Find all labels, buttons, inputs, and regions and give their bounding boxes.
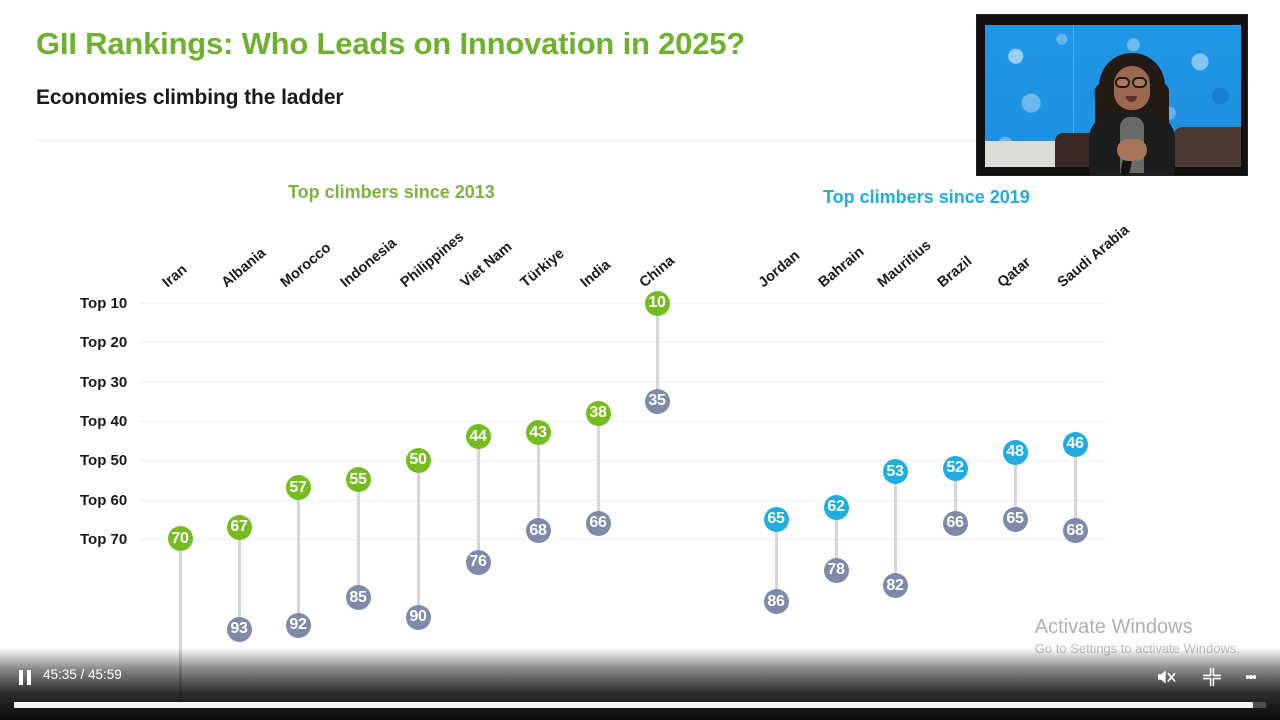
bubble-baseline-türkiye: 68 [526,518,551,543]
bubble-current-qatar: 48 [1003,440,1028,465]
x-axis-label-saudi-arabia: Saudi Arabia [1055,222,1133,291]
gii-rankings-chart: Top climbers since 2013 Top climbers sin… [0,150,1280,670]
bubble-current-philippines: 50 [406,448,431,473]
y-axis-label-10: Top 10 [80,295,140,312]
group-heading-2013: Top climbers since 2013 [288,182,495,203]
bubble-current-viet-nam: 44 [466,424,491,449]
bubble-current-albania: 67 [227,515,252,540]
x-axis-label-india: India [578,257,614,291]
bubble-baseline-morocco: 92 [286,613,311,638]
x-axis-label-bahrain: Bahrain [816,244,868,291]
page-title: GII Rankings: Who Leads on Innovation in… [36,26,745,62]
seek-bar-progress [14,702,1253,708]
pause-button[interactable] [12,664,38,690]
x-axis-label-albania: Albania [219,245,269,291]
stem-albania [238,527,241,629]
volume-muted-icon [1156,667,1178,687]
stem-türkiye [537,433,540,531]
page-subtitle: Economies climbing the ladder [36,86,344,110]
y-axis-label-60: Top 60 [80,492,140,509]
bubble-baseline-mauritius: 82 [883,573,908,598]
video-control-bar: 45:35 / 45:59 [0,648,1280,720]
exit-fullscreen-icon [1202,667,1222,687]
x-axis-label-brazil: Brazil [935,253,976,291]
x-axis-label-viet-nam: Viet Nam [458,239,516,291]
bubble-current-china: 10 [645,291,670,316]
bubble-current-morocco: 57 [286,475,311,500]
bubble-baseline-albania: 93 [227,617,252,642]
bubble-current-saudi-arabia: 46 [1063,432,1088,457]
stem-philippines [417,460,420,617]
gridline-top-20 [140,342,1105,343]
x-axis-label-qatar: Qatar [995,254,1034,291]
glasses-right-lens [1132,77,1147,88]
gridline-top-70 [140,539,1105,540]
stem-china [656,303,659,401]
y-axis-label-20: Top 20 [80,334,140,351]
bubble-current-jordan: 65 [764,507,789,532]
pause-icon-bar-right [27,670,31,685]
bubble-current-mauritius: 53 [883,459,908,484]
bubble-current-india: 38 [586,401,611,426]
y-axis-label-50: Top 50 [80,452,140,469]
x-axis-label-iran: Iran [160,262,191,291]
seek-bar[interactable] [14,702,1266,708]
bubble-current-bahrain: 62 [824,495,849,520]
bubble-baseline-india: 66 [586,511,611,536]
desk [985,141,1055,167]
gridline-top-60 [140,500,1105,501]
chair-right [1173,127,1241,167]
bubble-current-iran: 70 [168,526,193,551]
bubble-baseline-jordan: 86 [764,589,789,614]
glasses-left-lens [1115,77,1130,88]
bubble-baseline-saudi-arabia: 68 [1063,518,1088,543]
bubble-baseline-china: 35 [645,389,670,414]
face [1114,66,1150,110]
group-heading-2019: Top climbers since 2019 [823,187,1030,208]
mute-button[interactable] [1152,664,1182,690]
bubble-baseline-indonesia: 85 [346,585,371,610]
bubble-baseline-brazil: 66 [943,511,968,536]
x-axis-label-jordan: Jordan [756,248,803,291]
control-buttons-row: 45:35 / 45:59 [0,662,1280,692]
stem-indonesia [357,480,360,598]
bubble-current-indonesia: 55 [346,467,371,492]
time-display: 45:35 / 45:59 [43,667,122,682]
more-dot-3 [1253,675,1257,679]
speaker-figure [1087,53,1177,167]
more-options-button[interactable] [1236,664,1266,690]
bubble-baseline-viet-nam: 76 [466,550,491,575]
bubble-current-brazil: 52 [943,456,968,481]
exit-fullscreen-button[interactable] [1197,664,1227,690]
x-axis-label-indonesia: Indonesia [338,235,400,291]
presentation-slide: GII Rankings: Who Leads on Innovation in… [0,0,1280,720]
pause-icon-bar-left [19,670,23,685]
gridline-top-40 [140,421,1105,422]
x-axis-label-türkiye: Türkiye [518,246,568,291]
speaker-video-overlay[interactable] [976,14,1248,176]
gridline-top-30 [140,382,1105,383]
x-axis-label-morocco: Morocco [278,240,335,291]
x-axis-label-china: China [637,253,678,291]
hands [1117,139,1147,161]
x-axis-label-mauritius: Mauritius [875,237,935,291]
bubble-baseline-philippines: 90 [406,605,431,630]
stem-mauritius [894,472,897,586]
x-axis-label-philippines: Philippines [398,229,468,291]
y-axis-label-40: Top 40 [80,413,140,430]
bubble-current-türkiye: 43 [526,420,551,445]
stem-viet-nam [477,437,480,563]
bubble-baseline-qatar: 65 [1003,507,1028,532]
stem-morocco [297,488,300,626]
stem-india [597,413,600,523]
gridline-top-10 [140,303,1105,304]
y-axis-label-30: Top 30 [80,374,140,391]
y-axis-label-70: Top 70 [80,531,140,548]
bubble-baseline-bahrain: 78 [824,558,849,583]
